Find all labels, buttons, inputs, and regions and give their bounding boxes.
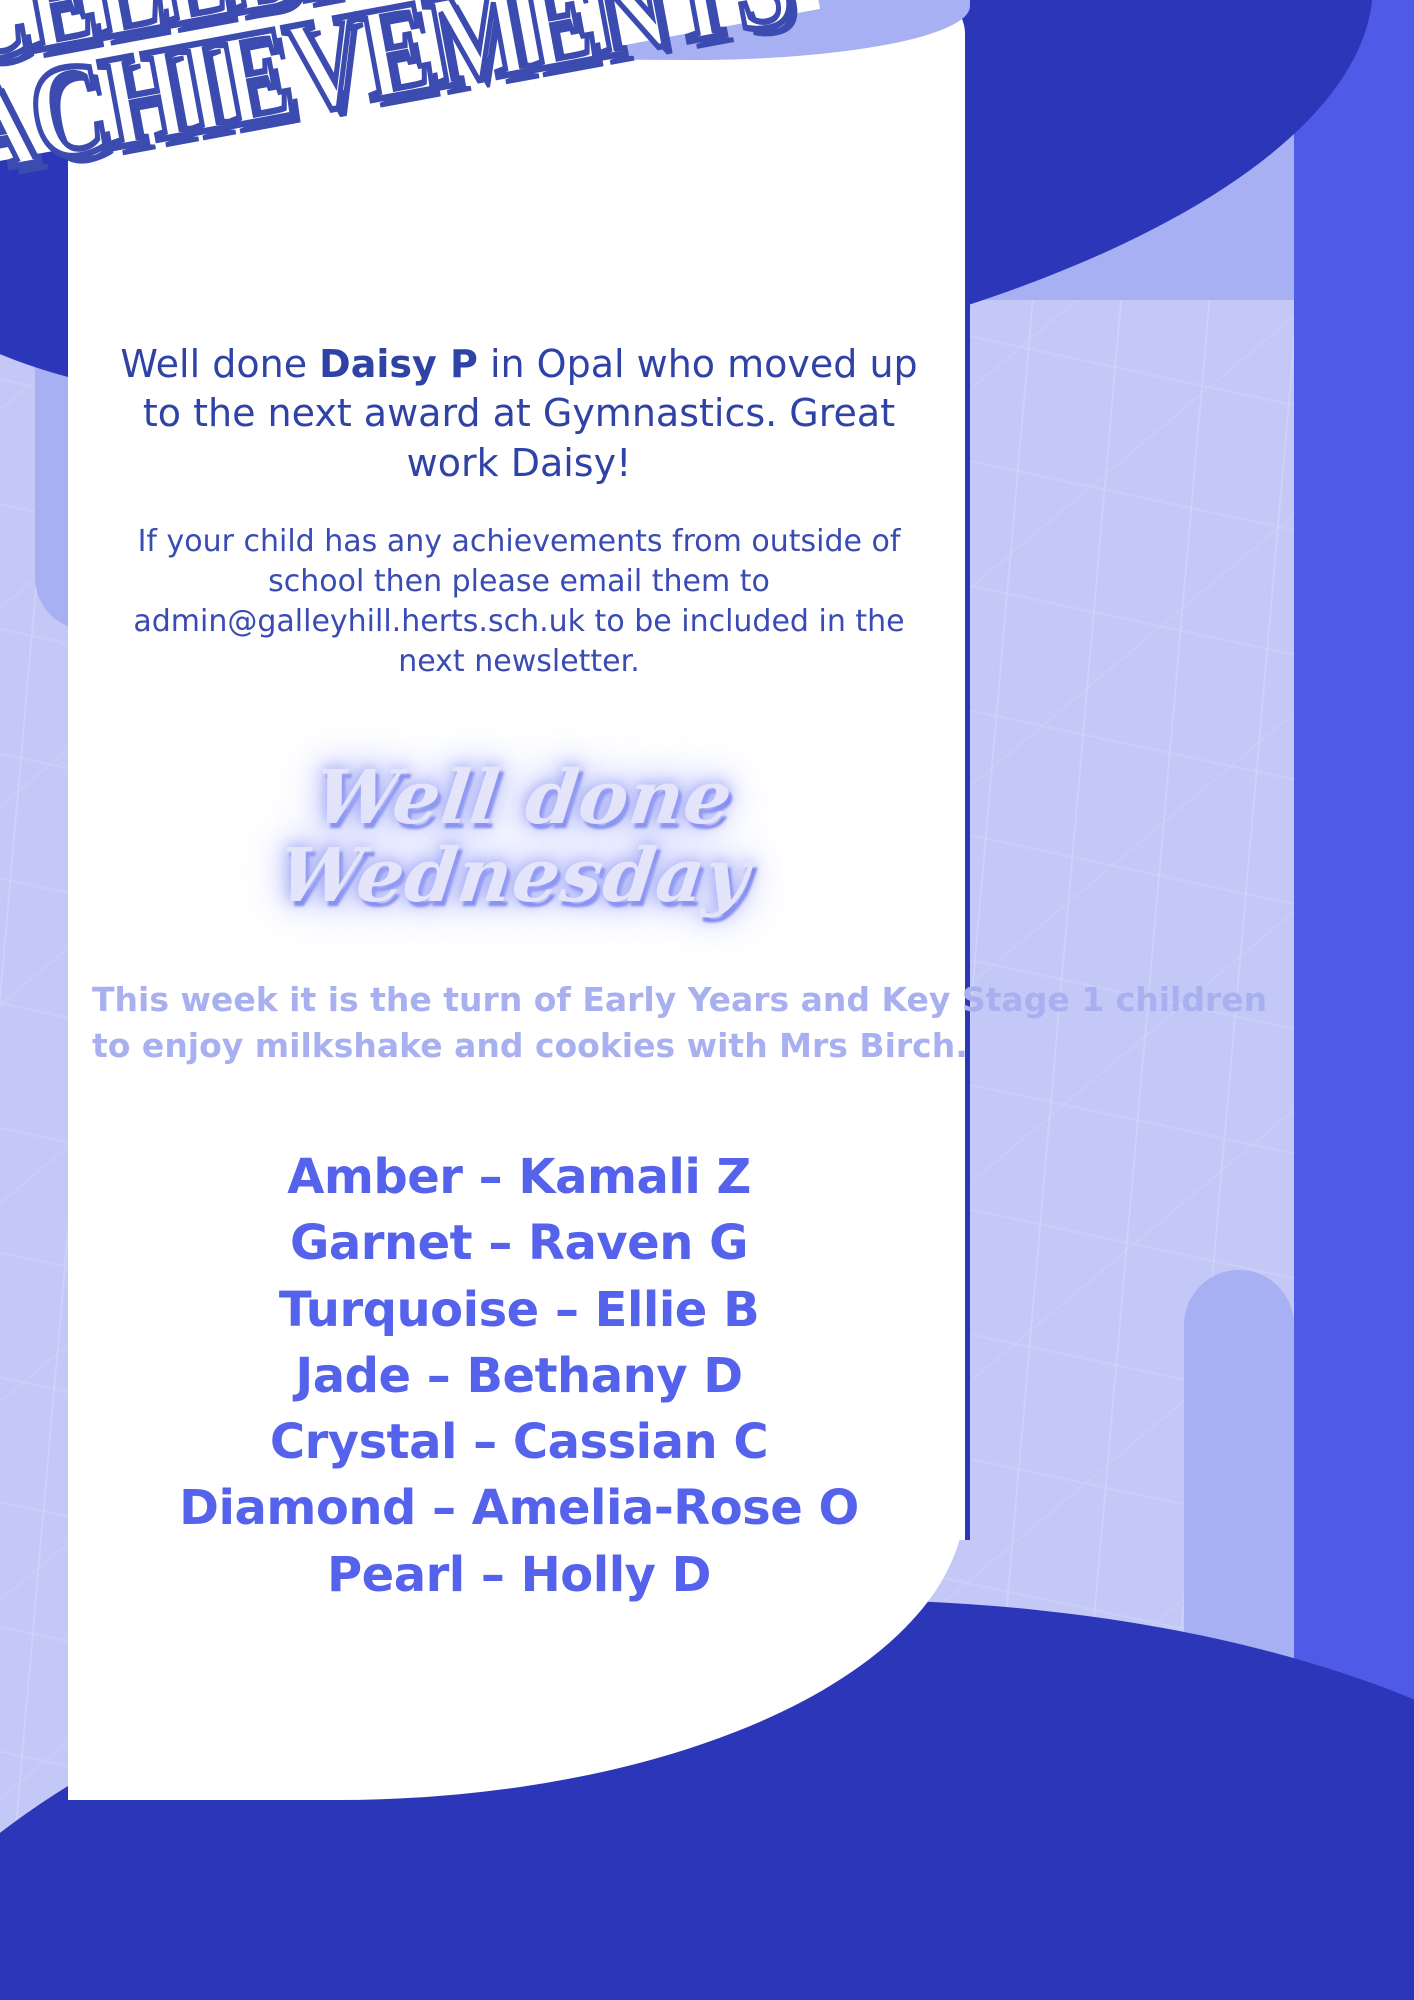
list-item: Garnet – Raven G: [92, 1210, 946, 1276]
list-item: Crystal – Cassian C: [92, 1409, 946, 1475]
poster-content: Well done Daisy P in Opal who moved up t…: [68, 340, 970, 1608]
achievement-intro-text: Well done: [120, 342, 319, 386]
highlight-line-1: This week it is the turn of Early Years …: [92, 977, 946, 1023]
achievement-paragraph: Well done Daisy P in Opal who moved up t…: [114, 340, 924, 488]
list-item: Pearl – Holly D: [92, 1542, 946, 1608]
highlight-paragraph: This week it is the turn of Early Years …: [92, 977, 946, 1068]
well-done-wednesday-heading: Well done Wednesday: [82, 760, 955, 915]
highlight-line-2: to enjoy milkshake and cookies with Mrs …: [92, 1023, 946, 1069]
list-item: Turquoise – Ellie B: [92, 1277, 946, 1343]
list-item: Jade – Bethany D: [92, 1343, 946, 1409]
celebrating-achievements-poster: CELEBRATING ACHIEVEMENTS Well done Daisy…: [0, 0, 1414, 2000]
list-item: Amber – Kamali Z: [92, 1144, 946, 1210]
class-winners-list: Amber – Kamali Z Garnet – Raven G Turquo…: [92, 1144, 946, 1608]
list-item: Diamond – Amelia-Rose O: [92, 1475, 946, 1541]
right-blue-strip: [1294, 0, 1414, 2000]
submission-note-paragraph: If your child has any achievements from …: [100, 522, 938, 682]
right-rounded-tab: [1184, 1270, 1294, 1700]
achievement-child-name: Daisy P: [319, 342, 478, 386]
